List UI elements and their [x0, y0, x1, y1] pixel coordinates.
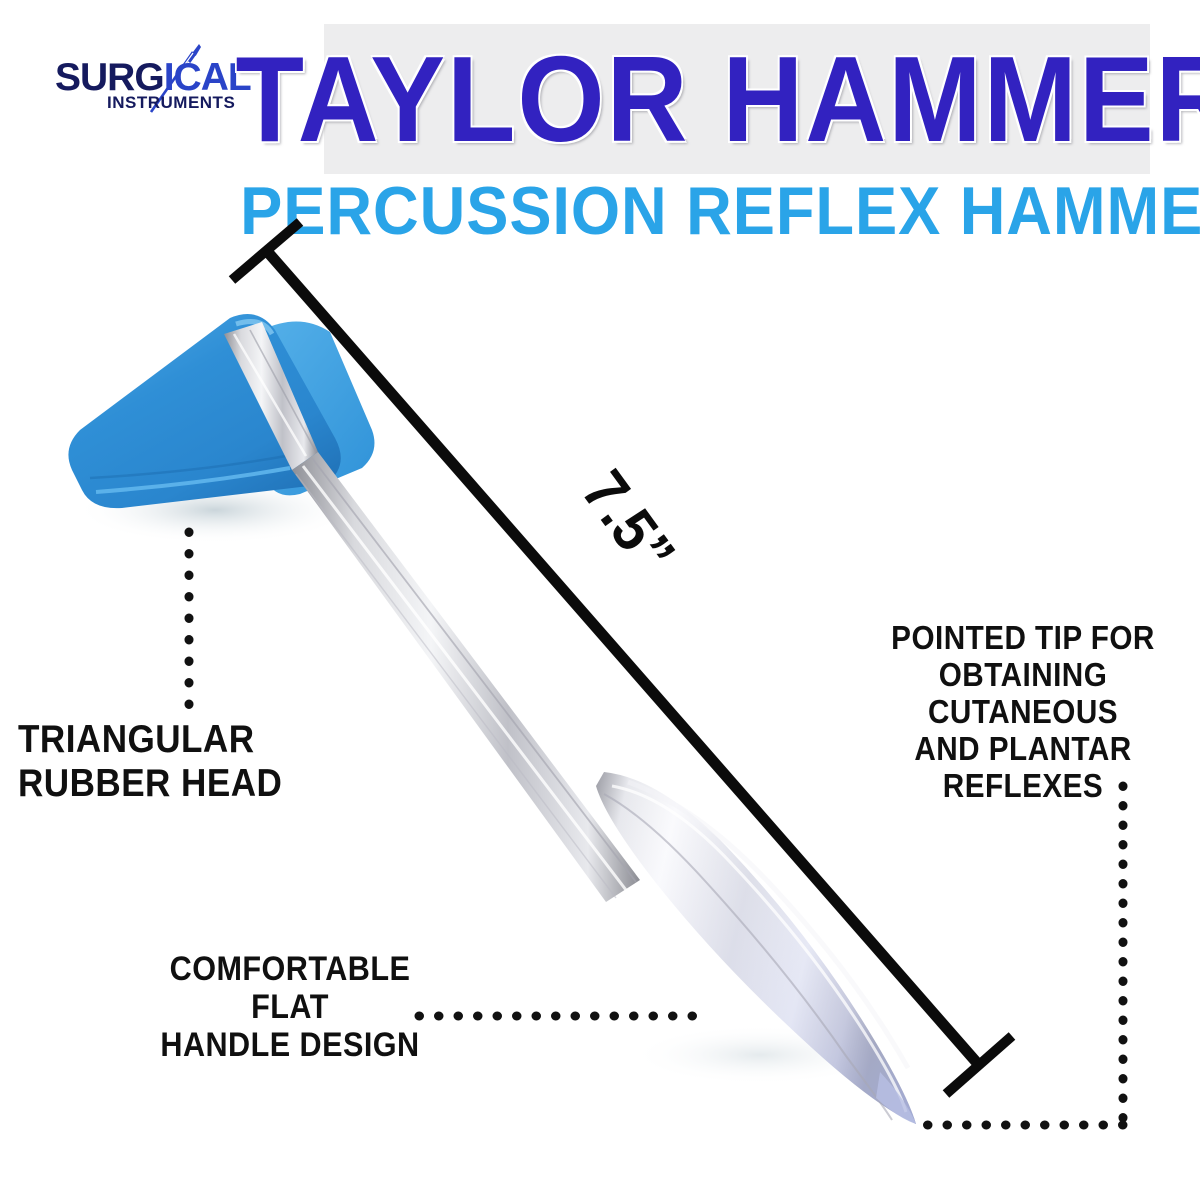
callout-triangular-rubber-head: TRIANGULAR RUBBER HEAD [18, 718, 396, 805]
callout-flat-handle-line1: COMFORTABLE FLAT [155, 950, 425, 1026]
callout-pointed-tip-line2: OBTAINING CUTANEOUS [864, 657, 1183, 731]
callout-flat-handle: COMFORTABLE FLAT HANDLE DESIGN [155, 950, 425, 1064]
leader-line-pointed-tip [916, 786, 1123, 1125]
callout-pointed-tip-line1: POINTED TIP FOR [864, 620, 1183, 657]
callout-flat-handle-line2: HANDLE DESIGN [155, 1026, 425, 1064]
callout-pointed-tip: POINTED TIP FOR OBTAINING CUTANEOUS AND … [864, 620, 1183, 805]
callout-pointed-tip-line3: AND PLANTAR REFLEXES [864, 731, 1183, 805]
callout-rubber-head-line1: TRIANGULAR RUBBER HEAD [18, 718, 396, 805]
infographic-canvas: SURGICAL INSTRUMENTS TAYLOR HAMMER PERCU… [0, 0, 1200, 1200]
